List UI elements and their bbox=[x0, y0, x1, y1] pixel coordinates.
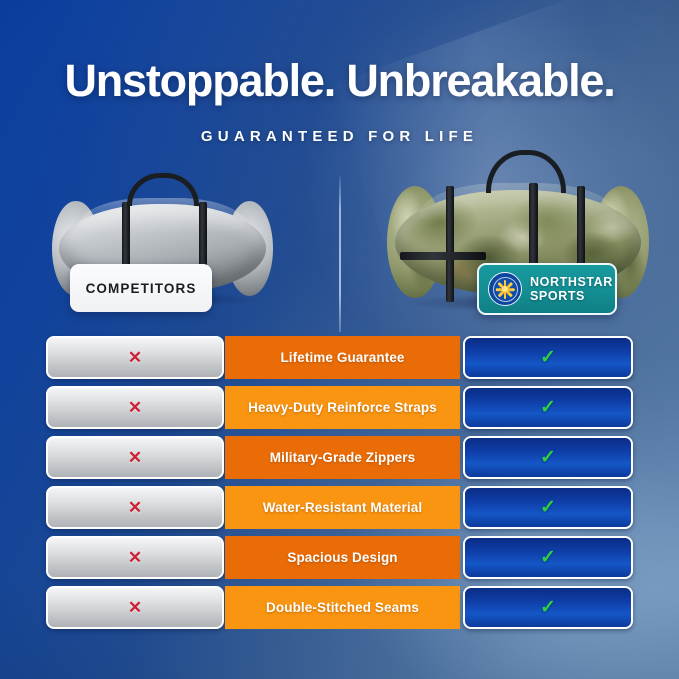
check-icon: ✓ bbox=[540, 398, 556, 417]
check-icon: ✓ bbox=[540, 598, 556, 617]
cross-icon: ✕ bbox=[128, 549, 142, 566]
northstar-brand-badge: NORTHSTAR SPORTS bbox=[477, 263, 617, 315]
check-icon: ✓ bbox=[540, 448, 556, 467]
seal-core bbox=[502, 286, 508, 292]
comparison-poster: Unstoppable. Unbreakable. GUARANTEED FOR… bbox=[0, 0, 679, 679]
page-title: Unstoppable. Unbreakable. bbox=[0, 58, 679, 103]
competitor-cell: ✕ bbox=[46, 586, 224, 629]
cross-icon: ✕ bbox=[128, 599, 142, 616]
feature-cell: Heavy-Duty Reinforce Straps bbox=[225, 386, 460, 429]
check-icon: ✓ bbox=[540, 498, 556, 517]
cross-icon: ✕ bbox=[128, 399, 142, 416]
northstar-cell: ✓ bbox=[463, 386, 633, 429]
competitor-cell: ✕ bbox=[46, 486, 224, 529]
table-row: ✕ Military-Grade Zippers ✓ bbox=[0, 436, 679, 479]
bag-strap-left bbox=[446, 186, 454, 302]
bag-handle bbox=[127, 173, 199, 207]
feature-cell: Military-Grade Zippers bbox=[225, 436, 460, 479]
competitor-cell: ✕ bbox=[46, 386, 224, 429]
bag-strap-bottom bbox=[400, 252, 486, 260]
northstar-cell: ✓ bbox=[463, 336, 633, 379]
compass-star-seal-icon bbox=[488, 272, 522, 306]
table-row: ✕ Water-Resistant Material ✓ bbox=[0, 486, 679, 529]
cross-icon: ✕ bbox=[128, 499, 142, 516]
competitors-label: COMPETITORS bbox=[70, 264, 212, 312]
brand-name-line1: NORTHSTAR bbox=[530, 275, 613, 290]
northstar-cell: ✓ bbox=[463, 486, 633, 529]
page-subtitle: GUARANTEED FOR LIFE bbox=[0, 128, 679, 145]
feature-cell: Water-Resistant Material bbox=[225, 486, 460, 529]
feature-cell: Double-Stitched Seams bbox=[225, 586, 460, 629]
cross-icon: ✕ bbox=[128, 449, 142, 466]
table-row: ✕ Heavy-Duty Reinforce Straps ✓ bbox=[0, 386, 679, 429]
comparison-table: ✕ Lifetime Guarantee ✓ ✕ Heavy-Duty Rein… bbox=[0, 336, 679, 636]
bag-handle bbox=[486, 150, 566, 193]
competitor-cell: ✕ bbox=[46, 336, 224, 379]
check-icon: ✓ bbox=[540, 548, 556, 567]
northstar-cell: ✓ bbox=[463, 536, 633, 579]
cross-icon: ✕ bbox=[128, 349, 142, 366]
brand-name-line2: SPORTS bbox=[530, 289, 613, 304]
competitor-cell: ✕ bbox=[46, 436, 224, 479]
table-row: ✕ Lifetime Guarantee ✓ bbox=[0, 336, 679, 379]
northstar-cell: ✓ bbox=[463, 436, 633, 479]
table-row: ✕ Spacious Design ✓ bbox=[0, 536, 679, 579]
section-divider bbox=[339, 176, 341, 332]
feature-cell: Lifetime Guarantee bbox=[225, 336, 460, 379]
check-icon: ✓ bbox=[540, 348, 556, 367]
northstar-cell: ✓ bbox=[463, 586, 633, 629]
table-row: ✕ Double-Stitched Seams ✓ bbox=[0, 586, 679, 629]
feature-cell: Spacious Design bbox=[225, 536, 460, 579]
competitor-cell: ✕ bbox=[46, 536, 224, 579]
brand-name: NORTHSTAR SPORTS bbox=[530, 275, 613, 304]
